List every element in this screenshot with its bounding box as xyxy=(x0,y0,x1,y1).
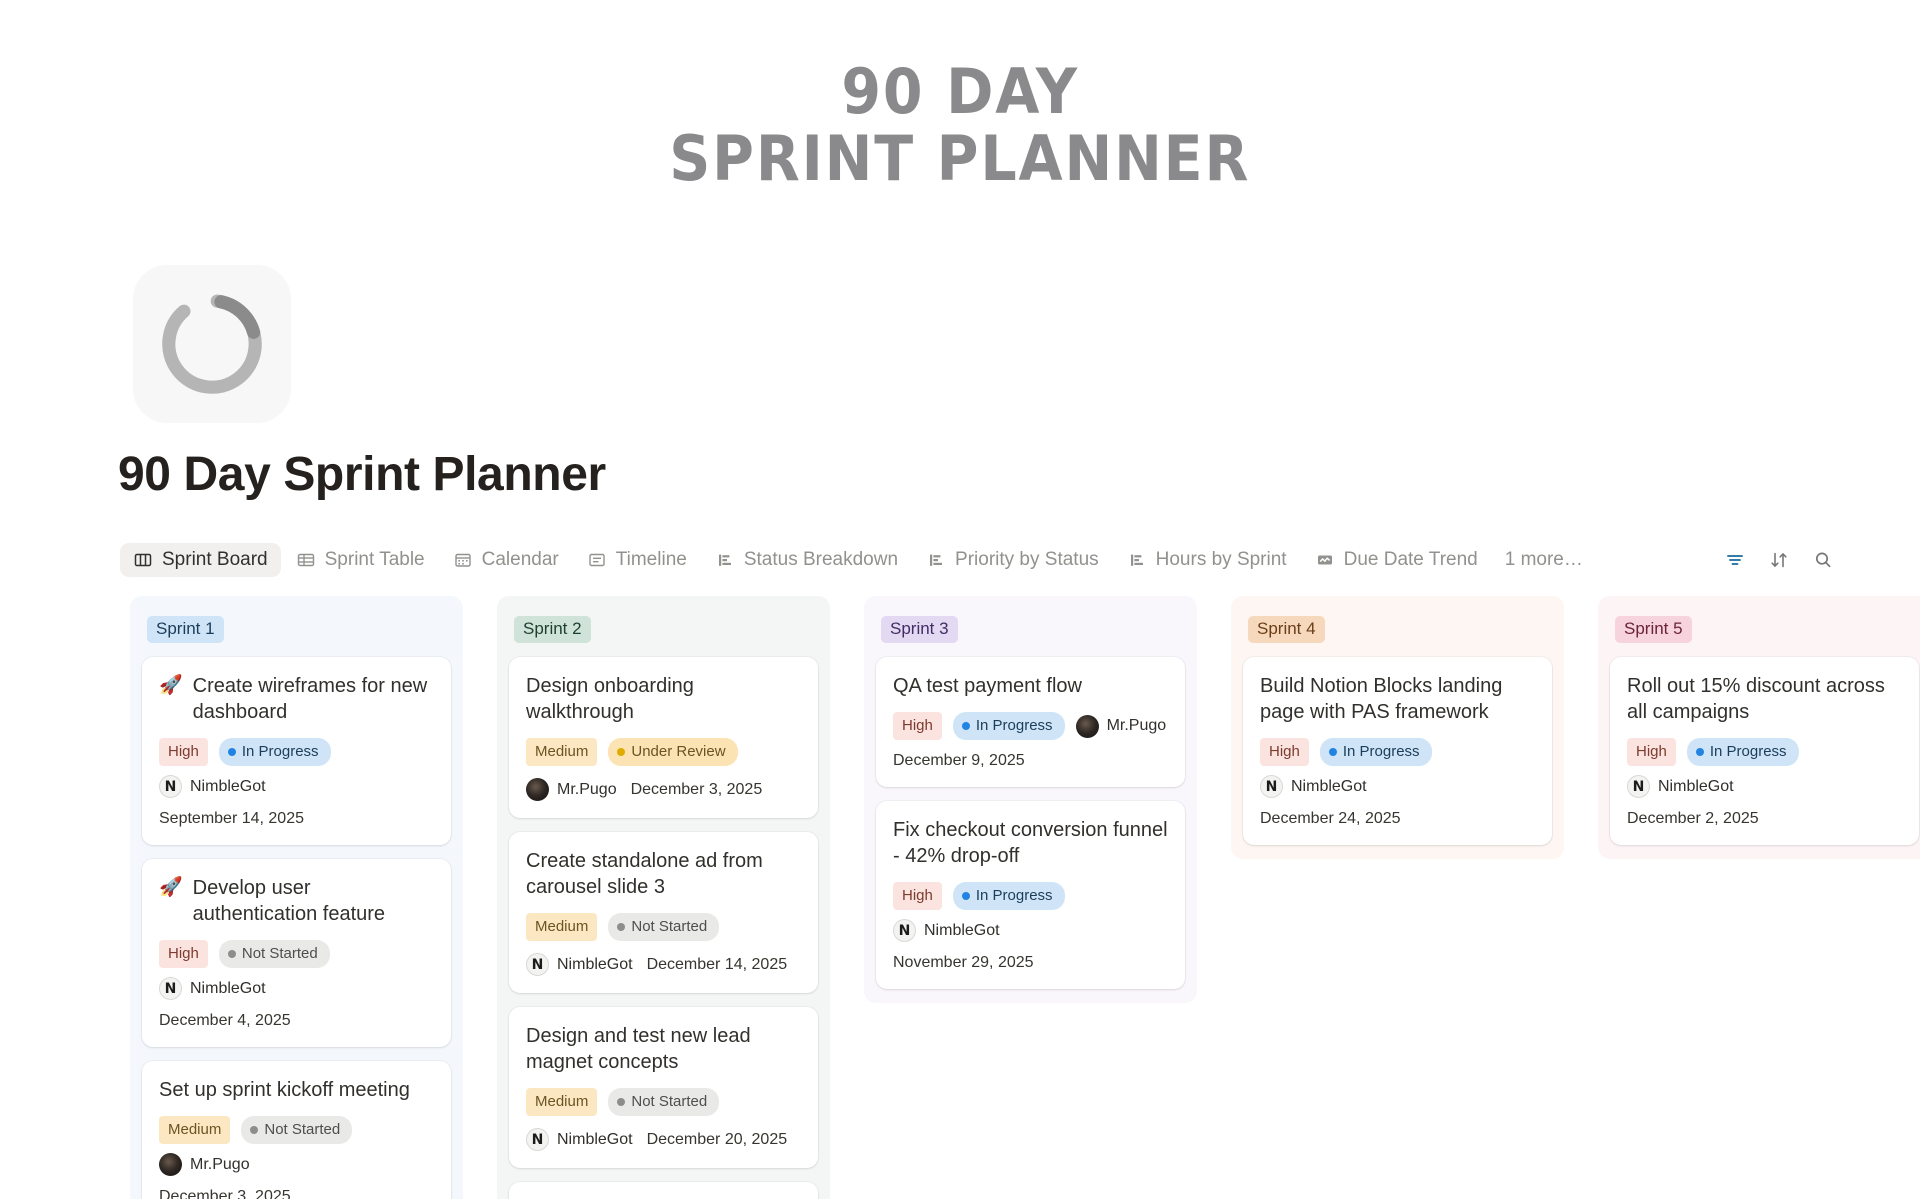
status-dot xyxy=(228,748,236,756)
due-date[interactable]: December 20, 2025 xyxy=(647,1131,788,1149)
status-label: Not Started xyxy=(242,946,318,961)
task-title-text: Design and test new lead magnet concepts xyxy=(526,1023,801,1075)
priority-badge[interactable]: High xyxy=(1260,738,1309,766)
avatar: N xyxy=(893,919,916,942)
due-date[interactable]: December 2, 2025 xyxy=(1627,810,1759,828)
status-badge[interactable]: In Progress xyxy=(1320,738,1432,766)
column-group-chip[interactable]: Sprint 1 xyxy=(147,616,224,643)
rocket-icon: 🚀 xyxy=(159,673,183,699)
assignee[interactable]: NNimbleGot xyxy=(159,775,266,798)
task-card-properties: MediumNot Started xyxy=(526,1088,801,1116)
column-group-chip[interactable]: Sprint 2 xyxy=(514,616,591,643)
due-date[interactable]: December 14, 2025 xyxy=(647,956,788,974)
task-card-properties: MediumNot Started xyxy=(526,913,801,941)
task-card[interactable]: Update all B2B copy to problem-focused m… xyxy=(509,1182,818,1199)
cover-title-line-2: SPRINT PLANNER xyxy=(670,126,1251,191)
tab-due-date-trend[interactable]: Due Date Trend xyxy=(1302,543,1491,577)
tab-label: Sprint Table xyxy=(325,549,425,571)
avatar: N xyxy=(526,953,549,976)
assignee-name: NimbleGot xyxy=(1291,778,1367,796)
view-toolbar-actions xyxy=(1724,549,1834,571)
due-date[interactable]: December 4, 2025 xyxy=(159,1012,291,1030)
task-card-date-row: September 14, 2025 xyxy=(159,810,434,828)
task-title-text: Create wireframes for new dashboard xyxy=(193,673,434,725)
sort-icon[interactable] xyxy=(1768,549,1790,571)
task-card-properties: HighIn ProgressNNimbleGot xyxy=(159,738,434,798)
task-card-properties: MediumNot StartedMr.Pugo xyxy=(159,1116,434,1176)
card-list: Build Notion Blocks landing page with PA… xyxy=(1243,657,1552,845)
bar-chart-icon xyxy=(926,550,946,570)
status-dot xyxy=(962,892,970,900)
status-dot xyxy=(617,923,625,931)
page-icon[interactable] xyxy=(133,265,291,423)
status-dot xyxy=(617,1098,625,1106)
task-title-text: Develop user authentication feature xyxy=(193,875,434,927)
column-group-chip[interactable]: Sprint 4 xyxy=(1248,616,1325,643)
priority-badge[interactable]: High xyxy=(893,882,942,910)
task-card-title: Set up sprint kickoff meeting xyxy=(159,1077,434,1103)
board-column[interactable]: Sprint 5Roll out 15% discount across all… xyxy=(1598,596,1920,859)
priority-badge[interactable]: Medium xyxy=(526,1088,597,1116)
bar-chart-icon xyxy=(1127,550,1147,570)
task-card-date-row: December 9, 2025 xyxy=(893,752,1168,770)
column-header: Sprint 1 xyxy=(147,616,451,643)
task-card-title: QA test payment flow xyxy=(893,673,1168,699)
card-list: Design onboarding walkthroughMediumUnder… xyxy=(509,657,818,1199)
cover-title-line-1: 90 DAY xyxy=(841,59,1079,124)
status-badge[interactable]: In Progress xyxy=(953,712,1065,740)
board-columns-icon xyxy=(133,550,153,570)
task-title-text: Design onboarding walkthrough xyxy=(526,673,801,725)
due-date[interactable]: September 14, 2025 xyxy=(159,810,304,828)
column-header: Sprint 4 xyxy=(1248,616,1552,643)
task-title-text: Set up sprint kickoff meeting xyxy=(159,1077,410,1103)
task-title-text: Create standalone ad from carousel slide… xyxy=(526,848,801,900)
task-card[interactable]: 🚀Develop user authentication featureHigh… xyxy=(142,859,451,1047)
status-label: In Progress xyxy=(976,888,1053,903)
assignee-name: Mr.Pugo xyxy=(557,781,617,799)
status-label: In Progress xyxy=(1343,744,1420,759)
task-card-title: Fix checkout conversion funnel - 42% dro… xyxy=(893,817,1168,869)
task-card-assignee-date: NNimbleGotDecember 14, 2025 xyxy=(526,953,801,976)
task-card-date-row: December 24, 2025 xyxy=(1260,810,1535,828)
task-card-title: Roll out 15% discount across all campaig… xyxy=(1627,673,1902,725)
task-title-text: Roll out 15% discount across all campaig… xyxy=(1627,673,1902,725)
tab-timeline[interactable]: Timeline xyxy=(574,543,700,577)
task-card[interactable]: Design and test new lead magnet concepts… xyxy=(509,1007,818,1168)
table-icon xyxy=(296,550,316,570)
priority-badge[interactable]: Medium xyxy=(526,738,597,766)
status-label: Not Started xyxy=(631,1094,707,1109)
avatar: N xyxy=(1260,775,1283,798)
due-date[interactable]: December 9, 2025 xyxy=(893,752,1025,770)
assignee[interactable]: NNimbleGot xyxy=(526,953,633,976)
status-dot xyxy=(617,748,625,756)
status-badge[interactable]: In Progress xyxy=(219,738,331,766)
view-tabs: Sprint Board Sprint Table xyxy=(120,543,1724,577)
tab-label: Sprint Board xyxy=(162,549,268,571)
assignee-name: Mr.Pugo xyxy=(1107,717,1167,735)
avatar: N xyxy=(159,977,182,1000)
status-dot xyxy=(1329,748,1337,756)
column-header: Sprint 2 xyxy=(514,616,818,643)
assignee[interactable]: NNimbleGot xyxy=(159,977,266,1000)
task-card-properties: HighIn ProgressMr.Pugo xyxy=(893,712,1168,740)
status-label: Not Started xyxy=(264,1122,340,1137)
avatar: N xyxy=(526,1128,549,1151)
timeline-icon xyxy=(587,550,607,570)
status-dot xyxy=(962,722,970,730)
assignee[interactable]: NNimbleGot xyxy=(893,919,1000,942)
tab-label: Hours by Sprint xyxy=(1156,549,1287,571)
task-card-title: Design and test new lead magnet concepts xyxy=(526,1023,801,1075)
status-dot xyxy=(250,1126,258,1134)
avatar xyxy=(1076,715,1099,738)
board-column[interactable]: Sprint 4Build Notion Blocks landing page… xyxy=(1231,596,1564,859)
status-badge[interactable]: Under Review xyxy=(608,738,737,766)
priority-badge[interactable]: High xyxy=(1627,738,1676,766)
task-card[interactable]: Create standalone ad from carousel slide… xyxy=(509,832,818,993)
rocket-icon: 🚀 xyxy=(159,875,183,901)
status-label: In Progress xyxy=(1710,744,1787,759)
assignee[interactable]: Mr.Pugo xyxy=(1076,715,1167,738)
status-badge[interactable]: Not Started xyxy=(608,1088,719,1116)
status-label: In Progress xyxy=(242,744,319,759)
task-card[interactable]: 🚀Create wireframes for new dashboardHigh… xyxy=(142,657,451,845)
avatar xyxy=(159,1153,182,1176)
assignee-name: NimbleGot xyxy=(190,980,266,998)
tab-hours-by-sprint[interactable]: Hours by Sprint xyxy=(1114,543,1300,577)
status-dot xyxy=(228,950,236,958)
status-badge[interactable]: Not Started xyxy=(608,913,719,941)
progress-ring-icon xyxy=(152,284,272,404)
status-label: Under Review xyxy=(631,744,725,759)
assignee-name: NimbleGot xyxy=(924,922,1000,940)
priority-badge[interactable]: Medium xyxy=(526,913,597,941)
tab-calendar[interactable]: Calendar xyxy=(440,543,572,577)
task-card[interactable]: QA test payment flowHighIn ProgressMr.Pu… xyxy=(876,657,1185,787)
filter-icon[interactable] xyxy=(1724,549,1746,571)
tab-label: Timeline xyxy=(616,549,687,571)
task-title-text: QA test payment flow xyxy=(893,673,1082,699)
page-cover-image: 90 DAY SPRINT PLANNER xyxy=(0,0,1920,250)
task-card[interactable]: Build Notion Blocks landing page with PA… xyxy=(1243,657,1552,845)
assignee-name: NimbleGot xyxy=(557,1131,633,1149)
avatar xyxy=(526,778,549,801)
priority-badge[interactable]: High xyxy=(893,712,942,740)
line-chart-icon xyxy=(1315,550,1335,570)
assignee-name: NimbleGot xyxy=(1658,778,1734,796)
task-card-date-row: November 29, 2025 xyxy=(893,954,1168,972)
board-column[interactable]: Sprint 3QA test payment flowHighIn Progr… xyxy=(864,596,1197,1003)
cover-artwork: 90 DAY SPRINT PLANNER xyxy=(0,0,1920,250)
task-card-properties: MediumUnder Review xyxy=(526,738,801,766)
status-badge[interactable]: In Progress xyxy=(1687,738,1799,766)
assignee[interactable]: NNimbleGot xyxy=(1260,775,1367,798)
avatar: N xyxy=(1627,775,1650,798)
card-list: 🚀Create wireframes for new dashboardHigh… xyxy=(142,657,451,1199)
priority-badge[interactable]: Medium xyxy=(159,1116,230,1144)
board-column[interactable]: Sprint 2Design onboarding walkthroughMed… xyxy=(497,596,830,1199)
tab-priority-by-status[interactable]: Priority by Status xyxy=(913,543,1112,577)
task-card-assignee-date: Mr.PugoDecember 3, 2025 xyxy=(526,778,801,801)
task-title-text: Fix checkout conversion funnel - 42% dro… xyxy=(893,817,1168,869)
board-column[interactable]: Sprint 1🚀Create wireframes for new dashb… xyxy=(130,596,463,1199)
status-badge[interactable]: In Progress xyxy=(953,882,1065,910)
assignee[interactable]: NNimbleGot xyxy=(1627,775,1734,798)
assignee-name: Mr.Pugo xyxy=(190,1156,250,1174)
tab-label: Due Date Trend xyxy=(1344,549,1478,571)
tab-label: Priority by Status xyxy=(955,549,1099,571)
task-card-date-row: December 2, 2025 xyxy=(1627,810,1902,828)
status-badge[interactable]: Not Started xyxy=(219,940,330,968)
assignee[interactable]: Mr.Pugo xyxy=(159,1153,250,1176)
due-date[interactable]: December 3, 2025 xyxy=(631,781,763,799)
column-group-chip[interactable]: Sprint 3 xyxy=(881,616,958,643)
task-card-date-row: December 3, 2025 xyxy=(159,1188,434,1199)
tab-sprint-board[interactable]: Sprint Board xyxy=(120,543,281,577)
search-icon[interactable] xyxy=(1812,549,1834,571)
more-views-button[interactable]: 1 more… xyxy=(1493,543,1595,577)
status-label: Not Started xyxy=(631,919,707,934)
tab-status-breakdown[interactable]: Status Breakdown xyxy=(702,543,911,577)
avatar: N xyxy=(159,775,182,798)
task-card[interactable]: Fix checkout conversion funnel - 42% dro… xyxy=(876,801,1185,989)
status-dot xyxy=(1696,748,1704,756)
tab-label: Status Breakdown xyxy=(744,549,898,571)
task-card-properties: HighIn ProgressNNimbleGot xyxy=(1627,738,1902,798)
calendar-icon xyxy=(453,550,473,570)
sprint-board[interactable]: Sprint 1🚀Create wireframes for new dashb… xyxy=(0,596,1920,1199)
status-badge[interactable]: Not Started xyxy=(241,1116,352,1144)
task-card-title: Build Notion Blocks landing page with PA… xyxy=(1260,673,1535,725)
tab-sprint-table[interactable]: Sprint Table xyxy=(283,543,438,577)
assignee[interactable]: NNimbleGot xyxy=(526,1128,633,1151)
task-card-assignee-date: NNimbleGotDecember 20, 2025 xyxy=(526,1128,801,1151)
assignee[interactable]: Mr.Pugo xyxy=(526,778,617,801)
task-card[interactable]: Set up sprint kickoff meetingMediumNot S… xyxy=(142,1061,451,1199)
task-card-date-row: December 4, 2025 xyxy=(159,1012,434,1030)
task-card[interactable]: Design onboarding walkthroughMediumUnder… xyxy=(509,657,818,818)
task-card-title: Design onboarding walkthrough xyxy=(526,673,801,725)
due-date[interactable]: November 29, 2025 xyxy=(893,954,1034,972)
due-date[interactable]: December 3, 2025 xyxy=(159,1188,291,1199)
column-header: Sprint 3 xyxy=(881,616,1185,643)
task-card-properties: HighIn ProgressNNimbleGot xyxy=(1260,738,1535,798)
status-label: In Progress xyxy=(976,718,1053,733)
priority-badge[interactable]: High xyxy=(159,940,208,968)
assignee-name: NimbleGot xyxy=(557,956,633,974)
view-tab-bar: Sprint Board Sprint Table xyxy=(0,536,1920,584)
page-title[interactable]: 90 Day Sprint Planner xyxy=(118,447,606,502)
due-date[interactable]: December 24, 2025 xyxy=(1260,810,1401,828)
bar-chart-icon xyxy=(715,550,735,570)
card-list: QA test payment flowHighIn ProgressMr.Pu… xyxy=(876,657,1185,989)
task-card[interactable]: Roll out 15% discount across all campaig… xyxy=(1610,657,1919,845)
task-card-properties: HighIn ProgressNNimbleGot xyxy=(893,882,1168,942)
priority-badge[interactable]: High xyxy=(159,738,208,766)
task-card-title: Create standalone ad from carousel slide… xyxy=(526,848,801,900)
task-title-text: Build Notion Blocks landing page with PA… xyxy=(1260,673,1535,725)
column-header: Sprint 5 xyxy=(1615,616,1919,643)
card-list: Roll out 15% discount across all campaig… xyxy=(1610,657,1919,845)
task-card-title: 🚀Create wireframes for new dashboard xyxy=(159,673,434,725)
task-card-title: 🚀Develop user authentication feature xyxy=(159,875,434,927)
task-card-properties: HighNot StartedNNimbleGot xyxy=(159,940,434,1000)
column-group-chip[interactable]: Sprint 5 xyxy=(1615,616,1692,643)
tab-label: Calendar xyxy=(482,549,559,571)
assignee-name: NimbleGot xyxy=(190,778,266,796)
